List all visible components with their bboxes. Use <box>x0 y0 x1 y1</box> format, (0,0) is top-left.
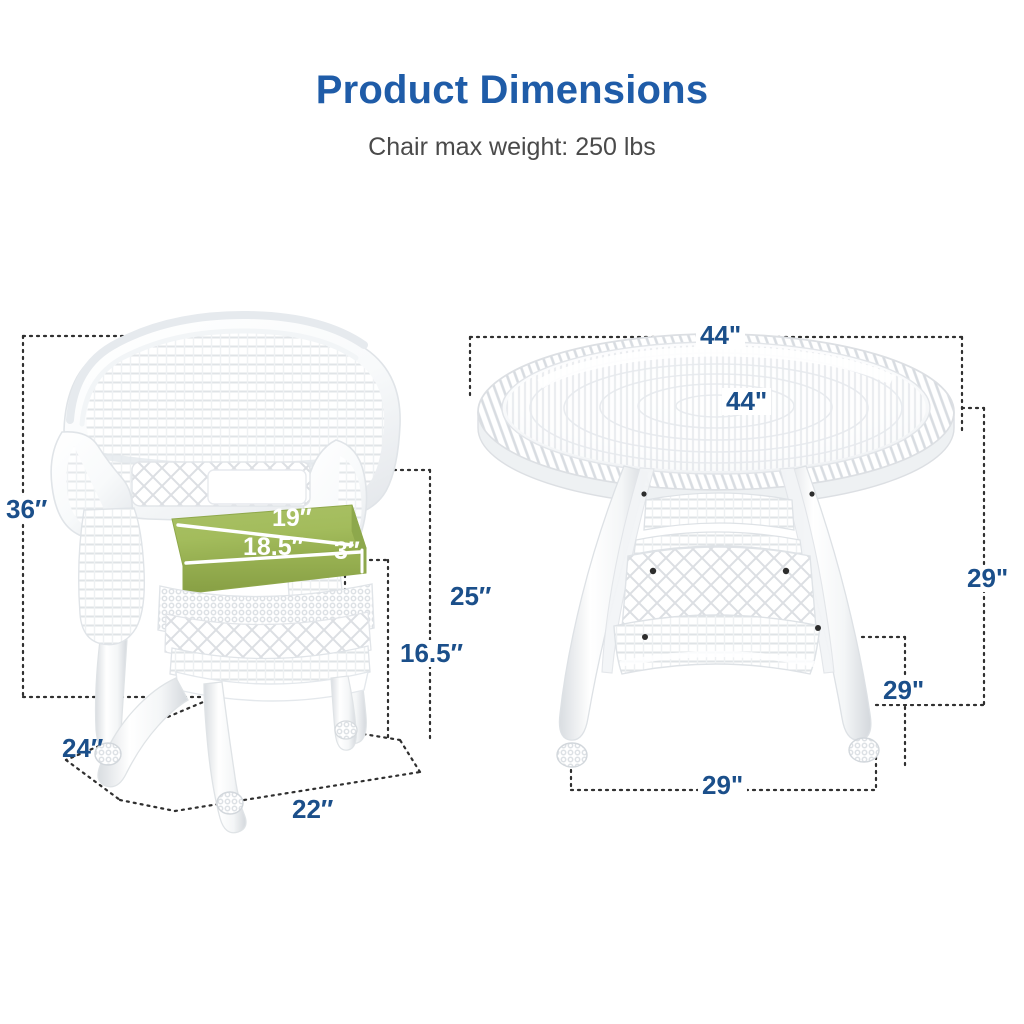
dim-table-diameter-depth: 44" <box>722 388 771 415</box>
dim-table-diameter-top: 44" <box>696 322 745 349</box>
dim-table-base-width: 29" <box>698 772 747 799</box>
guide-width-right <box>400 740 420 772</box>
dim-chair-width: 22″ <box>288 796 337 823</box>
dim-chair-depth: 24″ <box>58 735 107 762</box>
table-base-shelf <box>614 615 820 674</box>
product-dimensions-diagram: Product Dimensions Chair max weight: 250… <box>0 0 1024 1024</box>
diagram-artwork <box>0 0 1024 1024</box>
guide-depth-foot <box>120 800 175 811</box>
dim-chair-arm-height: 25″ <box>446 583 495 610</box>
dim-chair-seat-height: 16.5″ <box>396 640 467 667</box>
dim-table-leg-height: 29" <box>879 677 928 704</box>
dim-table-height: 29" <box>963 565 1012 592</box>
dim-chair-height: 36″ <box>2 496 51 523</box>
dim-cushion-width: 19″ <box>272 505 312 531</box>
dim-cushion-depth: 18.5″ <box>243 534 304 560</box>
dim-cushion-thickness: 3″ <box>334 538 360 564</box>
